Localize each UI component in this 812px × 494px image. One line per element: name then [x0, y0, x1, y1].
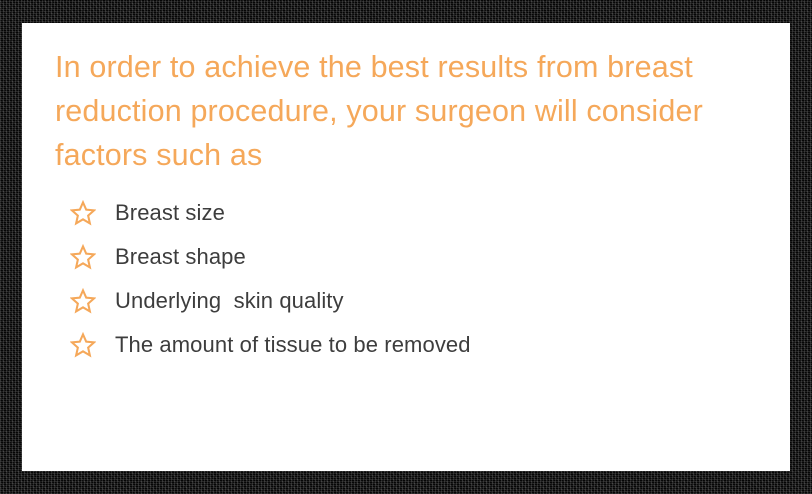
list-item-label: Breast size: [115, 200, 755, 226]
content-card: In order to achieve the best results fro…: [22, 23, 790, 471]
list-item: The amount of tissue to be removed: [55, 323, 755, 367]
star-outline-icon: [55, 244, 115, 270]
star-outline-icon: [55, 288, 115, 314]
list-item: Breast size: [55, 191, 755, 235]
star-outline-icon: [55, 200, 115, 226]
factor-list: Breast size Breast shape Underlying skin…: [55, 191, 755, 367]
slide-frame: In order to achieve the best results fro…: [0, 0, 812, 494]
list-item: Underlying skin quality: [55, 279, 755, 323]
list-item-label: Breast shape: [115, 244, 755, 270]
list-item-label: Underlying skin quality: [115, 288, 755, 314]
page-title: In order to achieve the best results fro…: [55, 45, 755, 177]
list-item: Breast shape: [55, 235, 755, 279]
star-outline-icon: [55, 332, 115, 358]
list-item-label: The amount of tissue to be removed: [115, 332, 755, 358]
